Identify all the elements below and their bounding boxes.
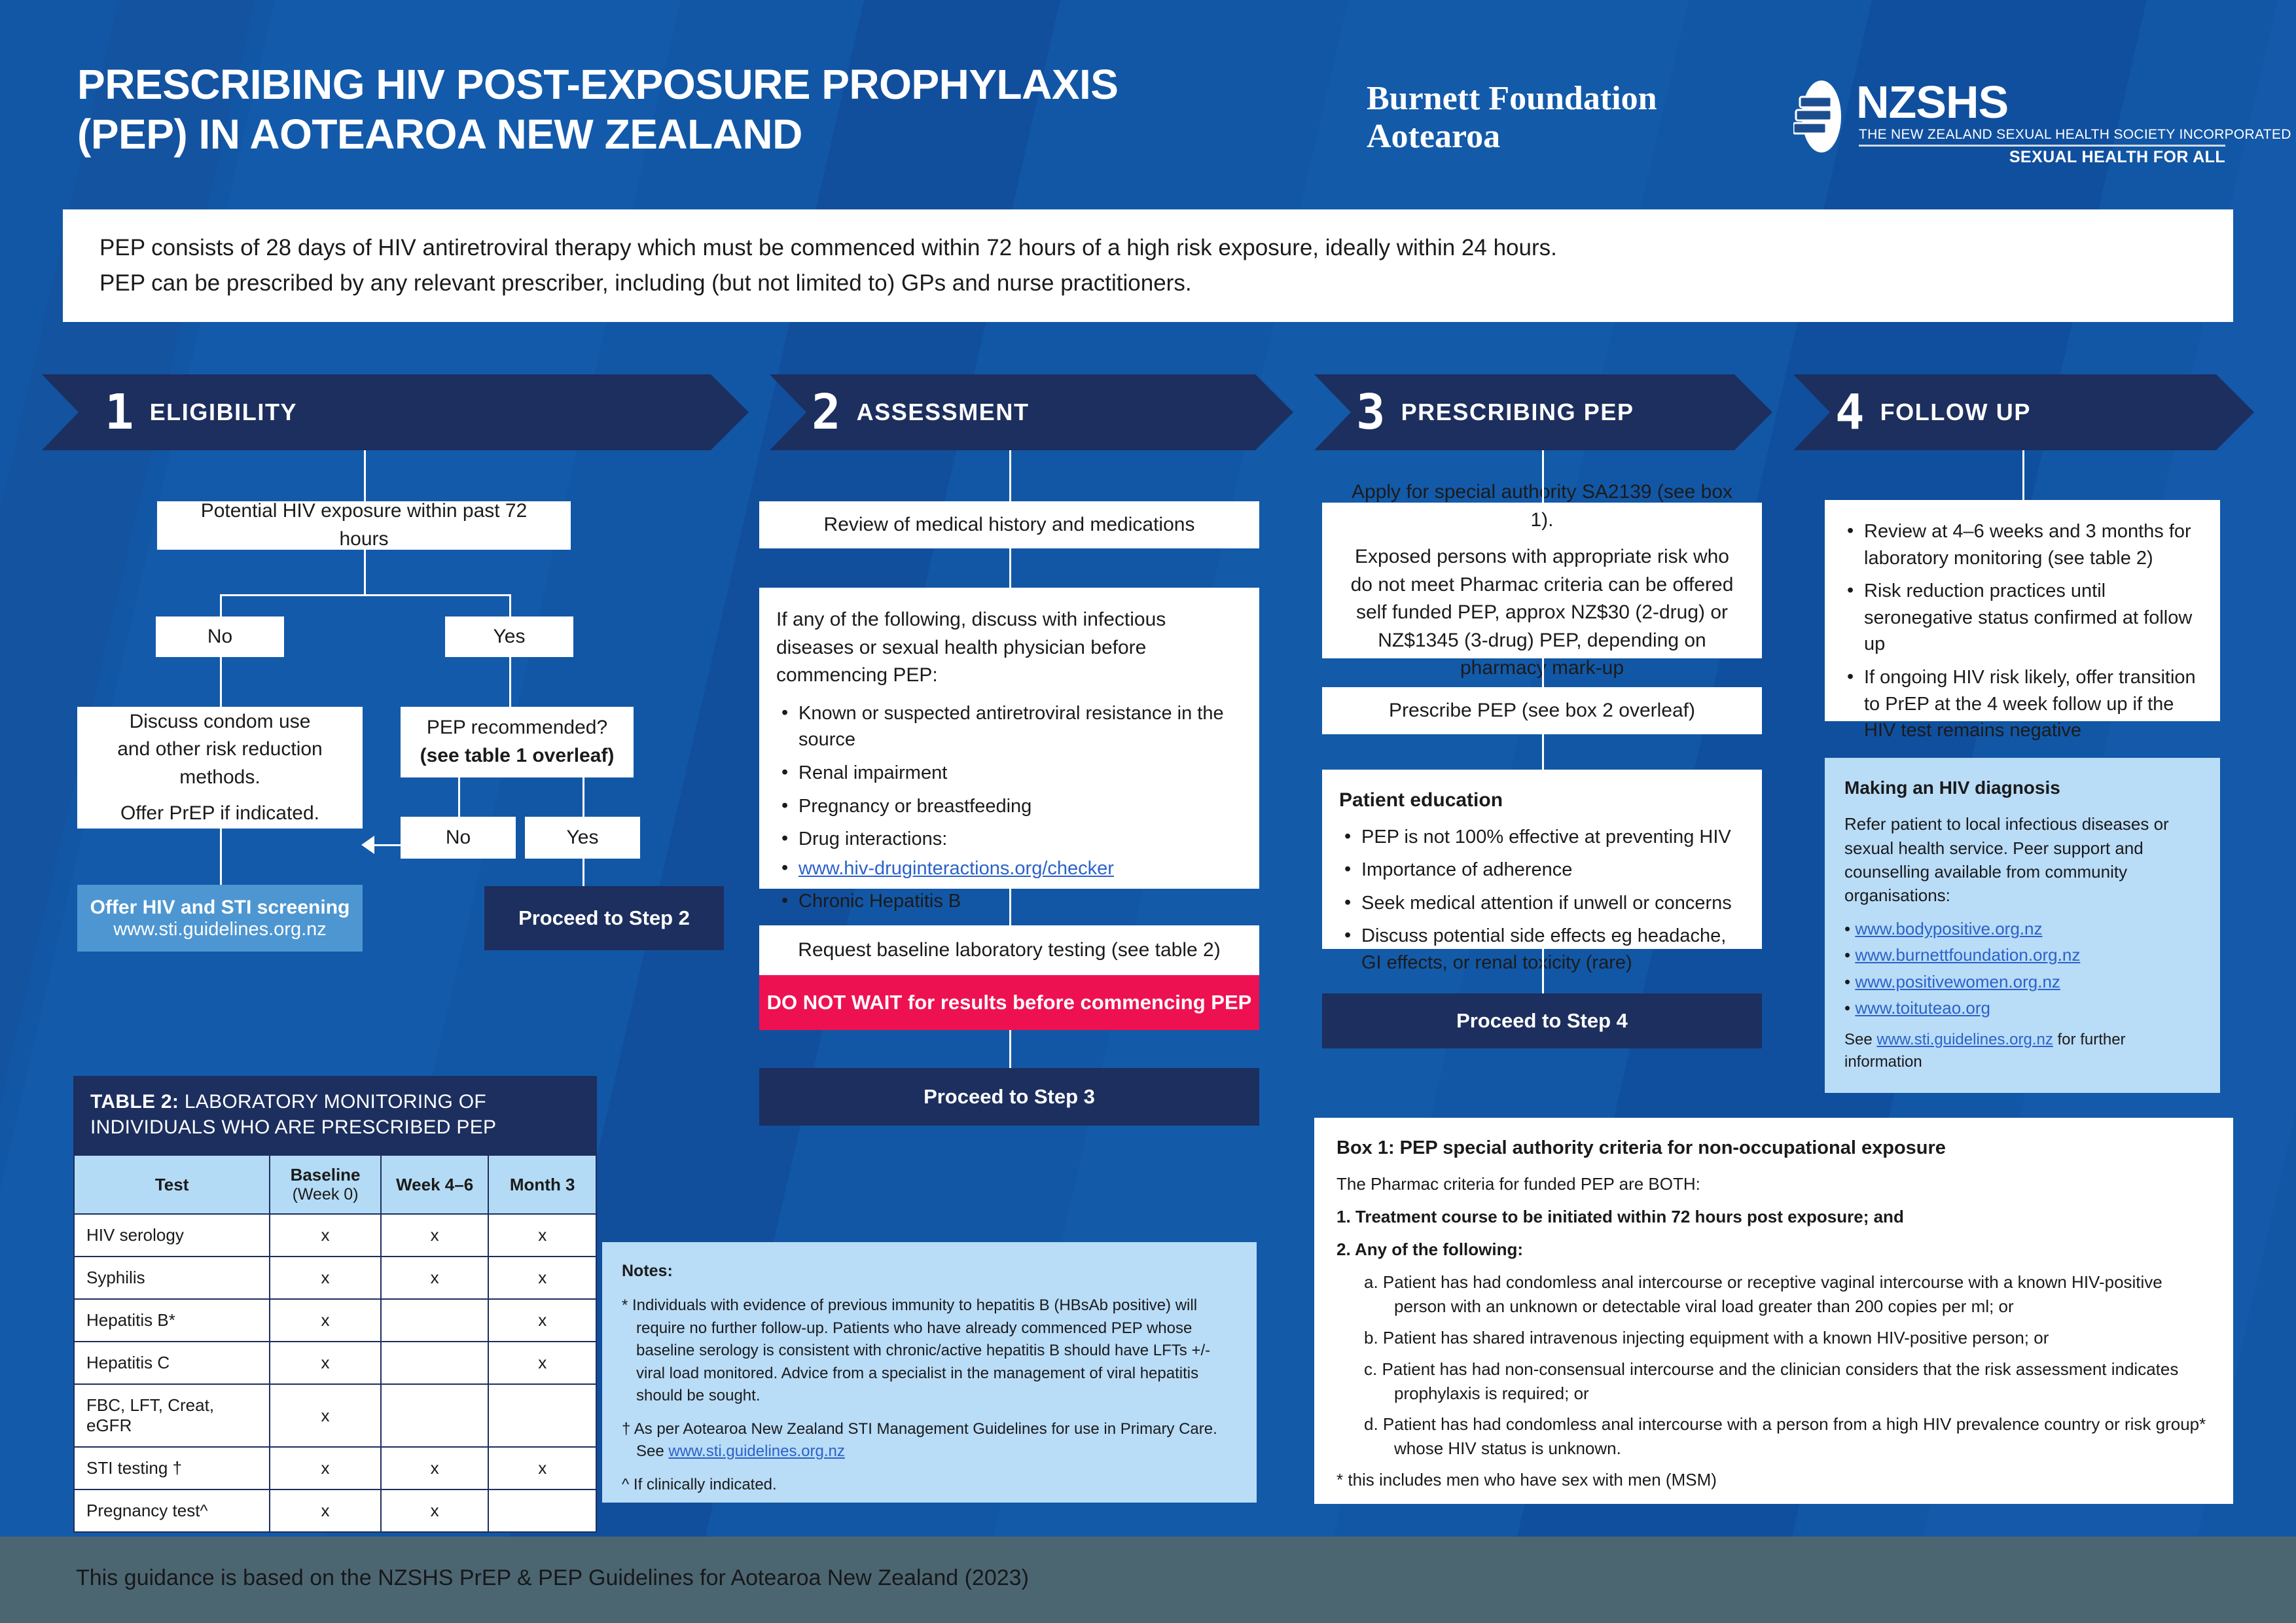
connector — [220, 827, 222, 885]
toituteao-link[interactable]: www.toituteao.org — [1855, 998, 1990, 1018]
burnettfoundation-link[interactable]: www.burnettfoundation.org.nz — [1855, 945, 2080, 965]
intro-line1: PEP consists of 28 days of HIV antiretro… — [99, 230, 2197, 266]
table2-title: TABLE 2: LABORATORY MONITORING OF INDIVI… — [73, 1076, 597, 1154]
table-row: Pregnancy test^ x x — [74, 1489, 596, 1532]
drug-interactions-link[interactable]: www.hiv-druginteractions.org/checker — [798, 858, 1114, 879]
list-item: • www.burnettfoundation.org.nz — [1844, 943, 2200, 967]
column-header-baseline-sub: (Week 0) — [274, 1185, 376, 1204]
nzshs-acronym: NZSHS — [1856, 76, 2008, 128]
hiv-diagnosis-panel: Making an HIV diagnosis Refer patient to… — [1825, 758, 2220, 1093]
table-row: HIV serology x x x — [74, 1214, 596, 1257]
step-number-2: 2 — [812, 388, 840, 437]
list-item: Importance of adherence — [1339, 857, 1745, 883]
table-row: FBC, LFT, Creat, eGFR x — [74, 1384, 596, 1447]
step-label-3: PRESCRIBING PEP — [1401, 399, 1634, 426]
nzshs-subtitle: THE NEW ZEALAND SEXUAL HEALTH SOCIETY IN… — [1859, 127, 2291, 143]
burnett-logo-line1: Burnett Foundation — [1367, 80, 1657, 118]
step-header-3: 3 PRESCRIBING PEP — [1314, 374, 1772, 450]
table-row: STI testing † x x x — [74, 1447, 596, 1489]
step1-discuss-box: Discuss condom use and other risk reduct… — [77, 707, 363, 829]
connector — [1009, 1030, 1011, 1068]
box1-intro: The Pharmac criteria for funded PEP are … — [1336, 1172, 2211, 1196]
patient-education-title: Patient education — [1339, 787, 1745, 815]
connector — [1009, 889, 1011, 925]
step-number-3: 3 — [1356, 388, 1384, 437]
connector — [220, 656, 222, 707]
page-footer: This guidance is based on the NZSHS PrEP… — [0, 1537, 2296, 1623]
connector — [220, 594, 511, 596]
table2-title-bold: TABLE 2: — [90, 1091, 179, 1113]
table2: Test Baseline (Week 0) Week 4–6 Month 3 … — [73, 1154, 597, 1533]
step-header-band: 1 ELIGIBILITY 2 ASSESSMENT 3 PRESCRIBING… — [0, 374, 2296, 450]
list-item: c. Patient has had non-consensual interc… — [1364, 1357, 2211, 1406]
step2-request-testing-box: Request baseline laboratory testing (see… — [759, 925, 1259, 975]
step-label-4: FOLLOW UP — [1880, 399, 2031, 426]
step1-branch-no: No — [156, 616, 284, 657]
notes-panel: Notes: * Individuals with evidence of pr… — [602, 1242, 1257, 1503]
intro-line2: PEP can be prescribed by any relevant pr… — [99, 266, 2197, 301]
notes-heading: Notes: — [622, 1259, 1237, 1283]
step2-do-not-wait-alert: DO NOT WAIT for results before commencin… — [759, 975, 1259, 1030]
connector — [1009, 548, 1011, 588]
step1-proceed-button[interactable]: Proceed to Step 2 — [484, 886, 724, 950]
nzshs-tagline: SEXUAL HEALTH FOR ALL — [2009, 148, 2225, 167]
connector — [220, 594, 222, 618]
list-item: Pregnancy or breastfeeding — [776, 793, 1242, 820]
list-item: If ongoing HIV risk likely, offer transi… — [1842, 664, 2203, 744]
column-header-baseline: Baseline (Week 0) — [270, 1155, 381, 1214]
step1-pep-recommended-box: PEP recommended? (see table 1 overleaf) — [401, 707, 634, 777]
step-number-1: 1 — [105, 388, 133, 437]
box1-item-1: 1. Treatment course to be initiated with… — [1336, 1205, 2211, 1229]
footer-text: This guidance is based on the NZSHS PrEP… — [76, 1565, 1029, 1591]
step3-prescribe-box: Prescribe PEP (see box 2 overleaf) — [1322, 687, 1762, 734]
infographic-page: PRESCRIBING HIV POST-EXPOSURE PROPHYLAXI… — [0, 0, 2296, 1623]
column-header-test: Test — [74, 1155, 270, 1214]
list-item: Drug interactions: — [776, 826, 1242, 853]
burnett-foundation-logo: Burnett Foundation Aotearoa — [1367, 80, 1657, 156]
sti-guidelines-link[interactable]: www.sti.guidelines.org.nz — [1876, 1031, 2053, 1048]
table2-head: Test Baseline (Week 0) Week 4–6 Month 3 — [74, 1155, 596, 1214]
box1-item-2: 2. Any of the following: — [1336, 1238, 2211, 1262]
list-item: • www.positivewomen.org.nz — [1844, 970, 2200, 993]
step2-proceed-button[interactable]: Proceed to Step 3 — [759, 1068, 1259, 1126]
step4-bullet-list: Review at 4–6 weeks and 3 months for lab… — [1842, 518, 2203, 744]
step3-patient-education-box: Patient education PEP is not 100% effect… — [1322, 770, 1762, 949]
intro-banner: PEP consists of 28 days of HIV antiretro… — [63, 209, 2233, 322]
hiv-diagnosis-see-line: See www.sti.guidelines.org.nz for furthe… — [1844, 1029, 2200, 1073]
step1-screening-box[interactable]: Offer HIV and STI screening www.sti.guid… — [77, 885, 363, 952]
list-item: Review at 4–6 weeks and 3 months for lab… — [1842, 518, 2203, 571]
step-label-1: ELIGIBILITY — [150, 399, 298, 426]
connector — [2022, 450, 2024, 500]
connector — [1009, 450, 1011, 503]
connector — [509, 656, 511, 707]
table2-header-row: Test Baseline (Week 0) Week 4–6 Month 3 — [74, 1155, 596, 1214]
column-header-week46: Week 4–6 — [381, 1155, 489, 1214]
step2-discuss-intro: If any of the following, discuss with in… — [776, 606, 1242, 690]
box1-panel: Box 1: PEP special authority criteria fo… — [1314, 1118, 2233, 1504]
burnett-logo-line2: Aotearoa — [1367, 118, 1657, 156]
step2-review-box: Review of medical history and medication… — [759, 501, 1259, 548]
connector — [583, 848, 584, 886]
table-row: Hepatitis B* x x — [74, 1299, 596, 1342]
box1-heading: Box 1: PEP special authority criteria fo… — [1336, 1135, 2211, 1162]
step4-followup-box: Review at 4–6 weeks and 3 months for lab… — [1825, 500, 2220, 721]
list-item: Risk reduction practices until seronegat… — [1842, 578, 2203, 658]
connector — [1542, 734, 1544, 770]
nzshs-logo: NZSHS THE NEW ZEALAND SEXUAL HEALTH SOCI… — [1793, 79, 2225, 164]
table-row: Hepatitis C x x — [74, 1342, 596, 1384]
connector — [364, 450, 366, 503]
sti-guidelines-link[interactable]: www.sti.guidelines.org.nz — [668, 1442, 844, 1460]
list-item: d. Patient has had condomless anal inter… — [1364, 1412, 2211, 1461]
hiv-diagnosis-links: • www.bodypositive.org.nz • www.burnettf… — [1844, 917, 2200, 1020]
list-item: Renal impairment — [776, 760, 1242, 787]
step1-pep-no: No — [401, 817, 516, 859]
page-title-line2: (PEP) IN AOTEAROA NEW ZEALAND — [77, 110, 1321, 160]
connector — [1542, 949, 1544, 993]
step-number-4: 4 — [1835, 388, 1863, 437]
column-header-month3: Month 3 — [488, 1155, 596, 1214]
connector — [458, 777, 460, 817]
list-item: Seek medical attention if unwell or conc… — [1339, 890, 1745, 917]
step-header-4: 4 FOLLOW UP — [1793, 374, 2254, 450]
list-item: a. Patient has had condomless anal inter… — [1364, 1270, 2211, 1319]
hiv-diagnosis-title: Making an HIV diagnosis — [1844, 775, 2200, 800]
step-header-2: 2 ASSESSMENT — [770, 374, 1293, 450]
connector — [1542, 450, 1544, 503]
connector — [364, 548, 366, 596]
page-header: PRESCRIBING HIV POST-EXPOSURE PROPHYLAXI… — [0, 0, 2296, 196]
positivewomen-link[interactable]: www.positivewomen.org.nz — [1855, 972, 2060, 991]
step2-discuss-box: If any of the following, discuss with in… — [759, 588, 1259, 889]
nzshs-divider — [1859, 145, 2225, 147]
connector — [1542, 658, 1544, 687]
box1-footnote: * this includes men who have sex with me… — [1336, 1468, 2211, 1492]
step3-proceed-button[interactable]: Proceed to Step 4 — [1322, 993, 1762, 1048]
nzshs-mark-icon — [1793, 80, 1850, 153]
table-row: Syphilis x x x — [74, 1257, 596, 1299]
box1-sub-list: a. Patient has had condomless anal inter… — [1364, 1270, 2211, 1461]
connector — [583, 777, 584, 817]
note-asterisk: * Individuals with evidence of previous … — [622, 1294, 1237, 1408]
step1-branch-yes: Yes — [445, 616, 573, 657]
connector — [509, 594, 511, 618]
hiv-diagnosis-body: Refer patient to local infectious diseas… — [1844, 812, 2200, 908]
table2-body: HIV serology x x x Syphilis x x x Hepati… — [74, 1214, 596, 1532]
list-item: b. Patient has shared intravenous inject… — [1364, 1326, 2211, 1350]
bodypositive-link[interactable]: www.bodypositive.org.nz — [1855, 919, 2042, 938]
table2-container: TABLE 2: LABORATORY MONITORING OF INDIVI… — [73, 1076, 597, 1533]
connector — [364, 844, 459, 846]
note-dagger: † As per Aotearoa New Zealand STI Manage… — [622, 1418, 1237, 1463]
step1-exposure-box: Potential HIV exposure within past 72 ho… — [157, 501, 571, 550]
drug-interactions-link-row: www.hiv-druginteractions.org/checker — [776, 855, 1242, 882]
page-title-line1: PRESCRIBING HIV POST-EXPOSURE PROPHYLAXI… — [77, 60, 1321, 110]
page-title: PRESCRIBING HIV POST-EXPOSURE PROPHYLAXI… — [77, 60, 1321, 159]
step-header-1: 1 ELIGIBILITY — [42, 374, 749, 450]
list-item: • www.toituteao.org — [1844, 996, 2200, 1020]
note-caret: ^ If clinically indicated. — [622, 1474, 1237, 1497]
list-item: PEP is not 100% effective at preventing … — [1339, 824, 1745, 851]
column-header-baseline-label: Baseline — [291, 1165, 361, 1185]
list-item: Known or suspected antiretroviral resist… — [776, 700, 1242, 753]
step-label-2: ASSESSMENT — [857, 399, 1030, 426]
list-item: • www.bodypositive.org.nz — [1844, 917, 2200, 940]
step3-authority-box: Apply for special authority SA2139 (see … — [1322, 503, 1762, 658]
